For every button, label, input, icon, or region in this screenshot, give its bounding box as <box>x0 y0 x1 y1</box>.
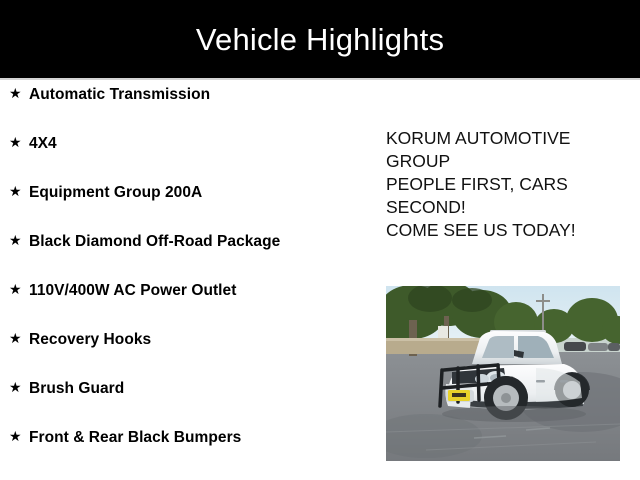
page-header: Vehicle Highlights <box>0 0 640 78</box>
list-item: ★ Brush Guard <box>0 380 372 429</box>
list-item: ★ Automatic Transmission <box>0 86 372 135</box>
star-icon: ★ <box>9 331 29 345</box>
vehicle-photo-illustration <box>386 286 620 461</box>
highlight-label: Front & Rear Black Bumpers <box>29 429 372 446</box>
dealer-message: KORUM AUTOMOTIVE GROUP PEOPLE FIRST, CAR… <box>386 127 604 242</box>
highlight-label: Automatic Transmission <box>29 86 372 103</box>
star-icon: ★ <box>9 282 29 296</box>
vehicle-highlights-page: Vehicle Highlights ★ Automatic Transmiss… <box>0 0 640 480</box>
list-item: ★ Front & Rear Black Bumpers <box>0 429 372 478</box>
highlight-label: 4X4 <box>29 135 372 152</box>
list-item: ★ Recovery Hooks <box>0 331 372 380</box>
header-divider <box>0 78 640 80</box>
vehicle-highlights-list: ★ Automatic Transmission ★ 4X4 ★ Equipme… <box>0 86 372 478</box>
star-icon: ★ <box>9 429 29 443</box>
list-item: ★ 110V/400W AC Power Outlet <box>0 282 372 331</box>
vehicle-photo <box>386 286 620 461</box>
list-item: ★ 4X4 <box>0 135 372 184</box>
highlight-label: Brush Guard <box>29 380 372 397</box>
star-icon: ★ <box>9 233 29 247</box>
star-icon: ★ <box>9 380 29 394</box>
highlight-label: Black Diamond Off-Road Package <box>29 233 372 250</box>
highlight-label: Equipment Group 200A <box>29 184 372 201</box>
list-item: ★ Equipment Group 200A <box>0 184 372 233</box>
star-icon: ★ <box>9 86 29 100</box>
highlight-label: Recovery Hooks <box>29 331 372 348</box>
page-title: Vehicle Highlights <box>196 24 444 55</box>
highlight-label: 110V/400W AC Power Outlet <box>29 282 372 299</box>
star-icon: ★ <box>9 135 29 149</box>
list-item: ★ Black Diamond Off-Road Package <box>0 233 372 282</box>
star-icon: ★ <box>9 184 29 198</box>
